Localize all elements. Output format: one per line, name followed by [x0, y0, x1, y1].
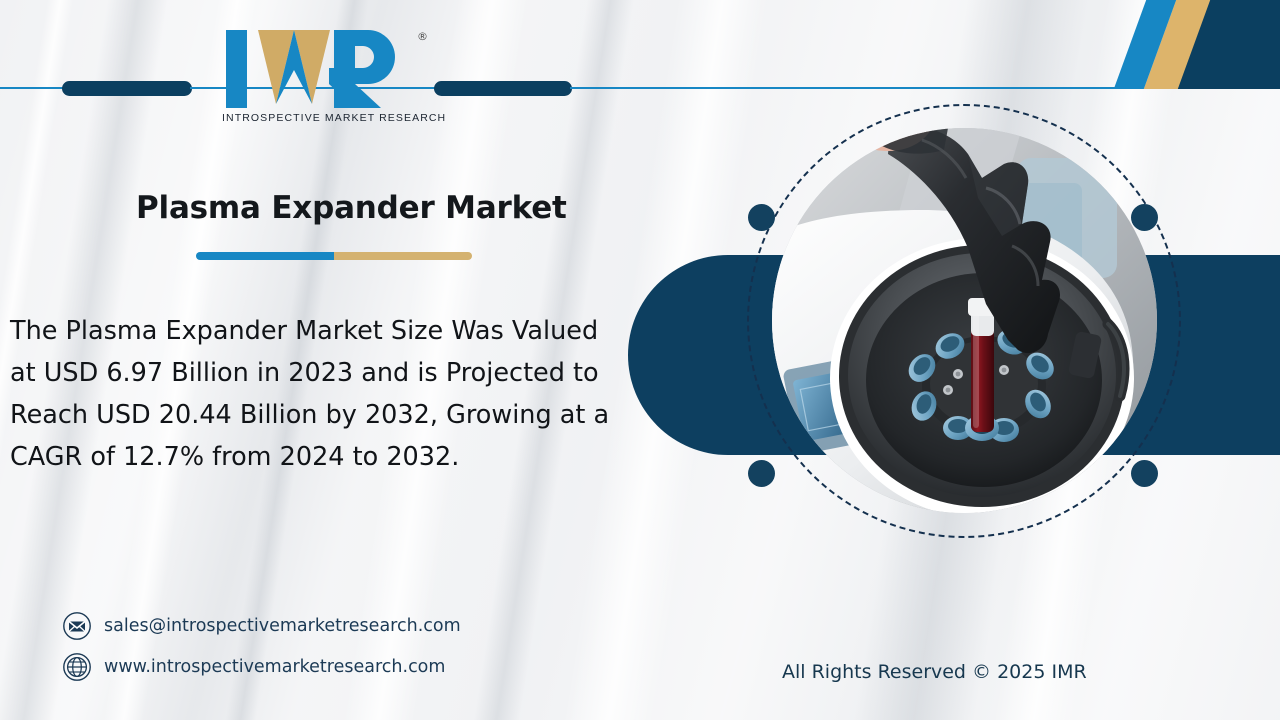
- website-text: www.introspectivemarketresearch.com: [104, 657, 445, 677]
- ring-dot-bottom-right: [1131, 460, 1158, 487]
- divider-gold-segment: [334, 252, 472, 260]
- logo-letters-svg: [222, 26, 422, 112]
- registered-trademark-icon: ®: [417, 30, 428, 43]
- contact-email[interactable]: sales@introspectivemarketresearch.com: [62, 611, 461, 641]
- logo-tagline: INTROSPECTIVE MARKET RESEARCH: [222, 112, 422, 124]
- globe-icon: [62, 652, 92, 682]
- imr-logo: ® INTROSPECTIVE MARKET RESEARCH: [222, 26, 422, 138]
- logo-mark: ®: [222, 26, 422, 112]
- corner-stripes-decoration: [1050, 0, 1280, 89]
- ring-dot-top-left: [748, 204, 775, 231]
- page-title: Plasma Expander Market: [136, 190, 567, 226]
- email-text: sales@introspectivemarketresearch.com: [104, 616, 461, 636]
- copyright-text: All Rights Reserved © 2025 IMR: [782, 661, 1087, 683]
- header-rule-pill-left: [62, 81, 192, 96]
- header-rule-line-right: [570, 87, 1130, 89]
- header-rule-line-left: [0, 87, 66, 89]
- ring-dot-top-right: [1131, 204, 1158, 231]
- title-divider: [196, 252, 472, 260]
- centrifuge-photo: [772, 128, 1157, 513]
- market-summary-text: The Plasma Expander Market Size Was Valu…: [10, 310, 610, 478]
- header-rule-pill-right: [434, 81, 572, 96]
- envelope-icon: [62, 611, 92, 641]
- centrifuge-illustration: [772, 128, 1157, 513]
- infographic-canvas: ® INTROSPECTIVE MARKET RESEARCH Plasma E…: [0, 0, 1280, 720]
- contact-website[interactable]: www.introspectivemarketresearch.com: [62, 652, 445, 682]
- ring-dot-bottom-left: [748, 460, 775, 487]
- divider-blue-segment: [196, 252, 334, 260]
